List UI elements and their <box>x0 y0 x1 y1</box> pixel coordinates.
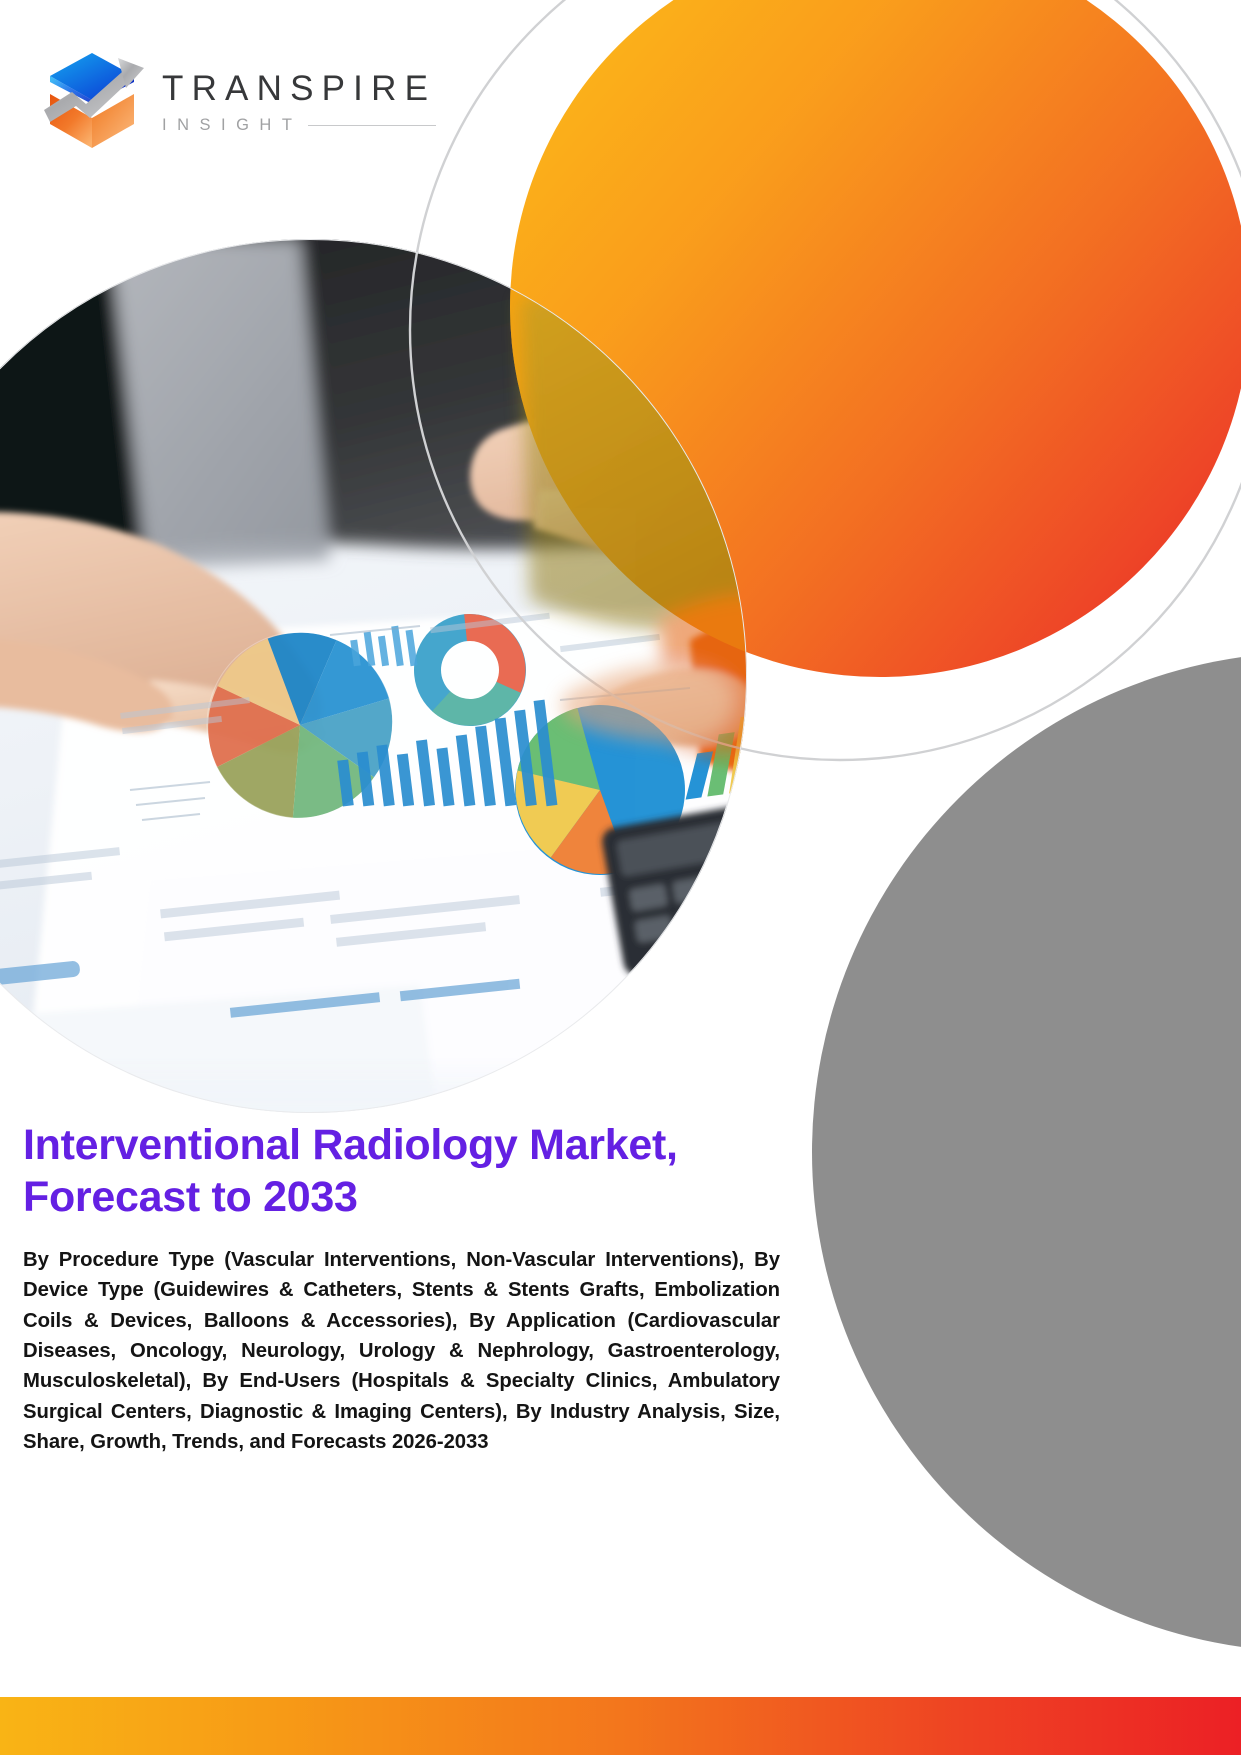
report-cover-page: TRANSPIRE INSIGHT Interventional Radiolo… <box>0 0 1241 1755</box>
brand-subword-row: INSIGHT <box>162 117 436 134</box>
report-subtitle: By Procedure Type (Vascular Intervention… <box>23 1245 780 1457</box>
bottom-gradient-bar <box>0 1697 1241 1755</box>
gray-circle-decoration <box>0 0 1241 1755</box>
logo-rule-line <box>308 125 436 126</box>
transpire-cube-arrow-logo-icon <box>38 46 150 154</box>
brand-wordmark: TRANSPIRE <box>162 71 436 106</box>
brand-subword: INSIGHT <box>162 117 302 134</box>
report-title: Interventional Radiology Market, Forecas… <box>23 1119 753 1223</box>
cover-text-block: Interventional Radiology Market, Forecas… <box>23 1119 780 1457</box>
brand-logo[interactable]: TRANSPIRE INSIGHT <box>38 44 438 156</box>
logo-wordmark-group: TRANSPIRE INSIGHT <box>162 67 436 134</box>
